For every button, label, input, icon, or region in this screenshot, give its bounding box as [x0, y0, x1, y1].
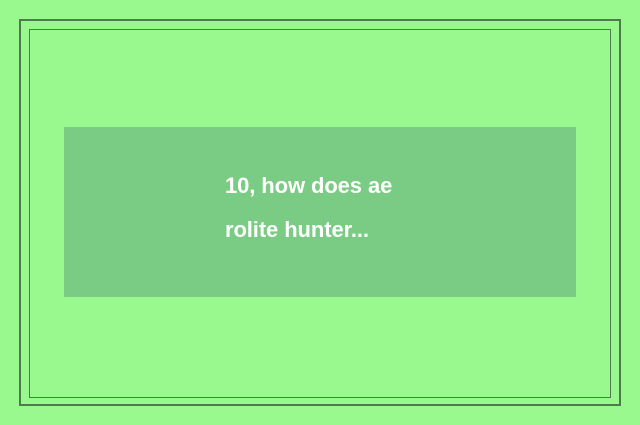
slide-canvas: 10, how does ae rolite hunter... — [0, 0, 640, 425]
quote-line-1: 10, how does ae — [225, 164, 392, 208]
quote-card: 10, how does ae rolite hunter... — [64, 127, 576, 297]
quote-line-2: rolite hunter... — [225, 208, 369, 252]
